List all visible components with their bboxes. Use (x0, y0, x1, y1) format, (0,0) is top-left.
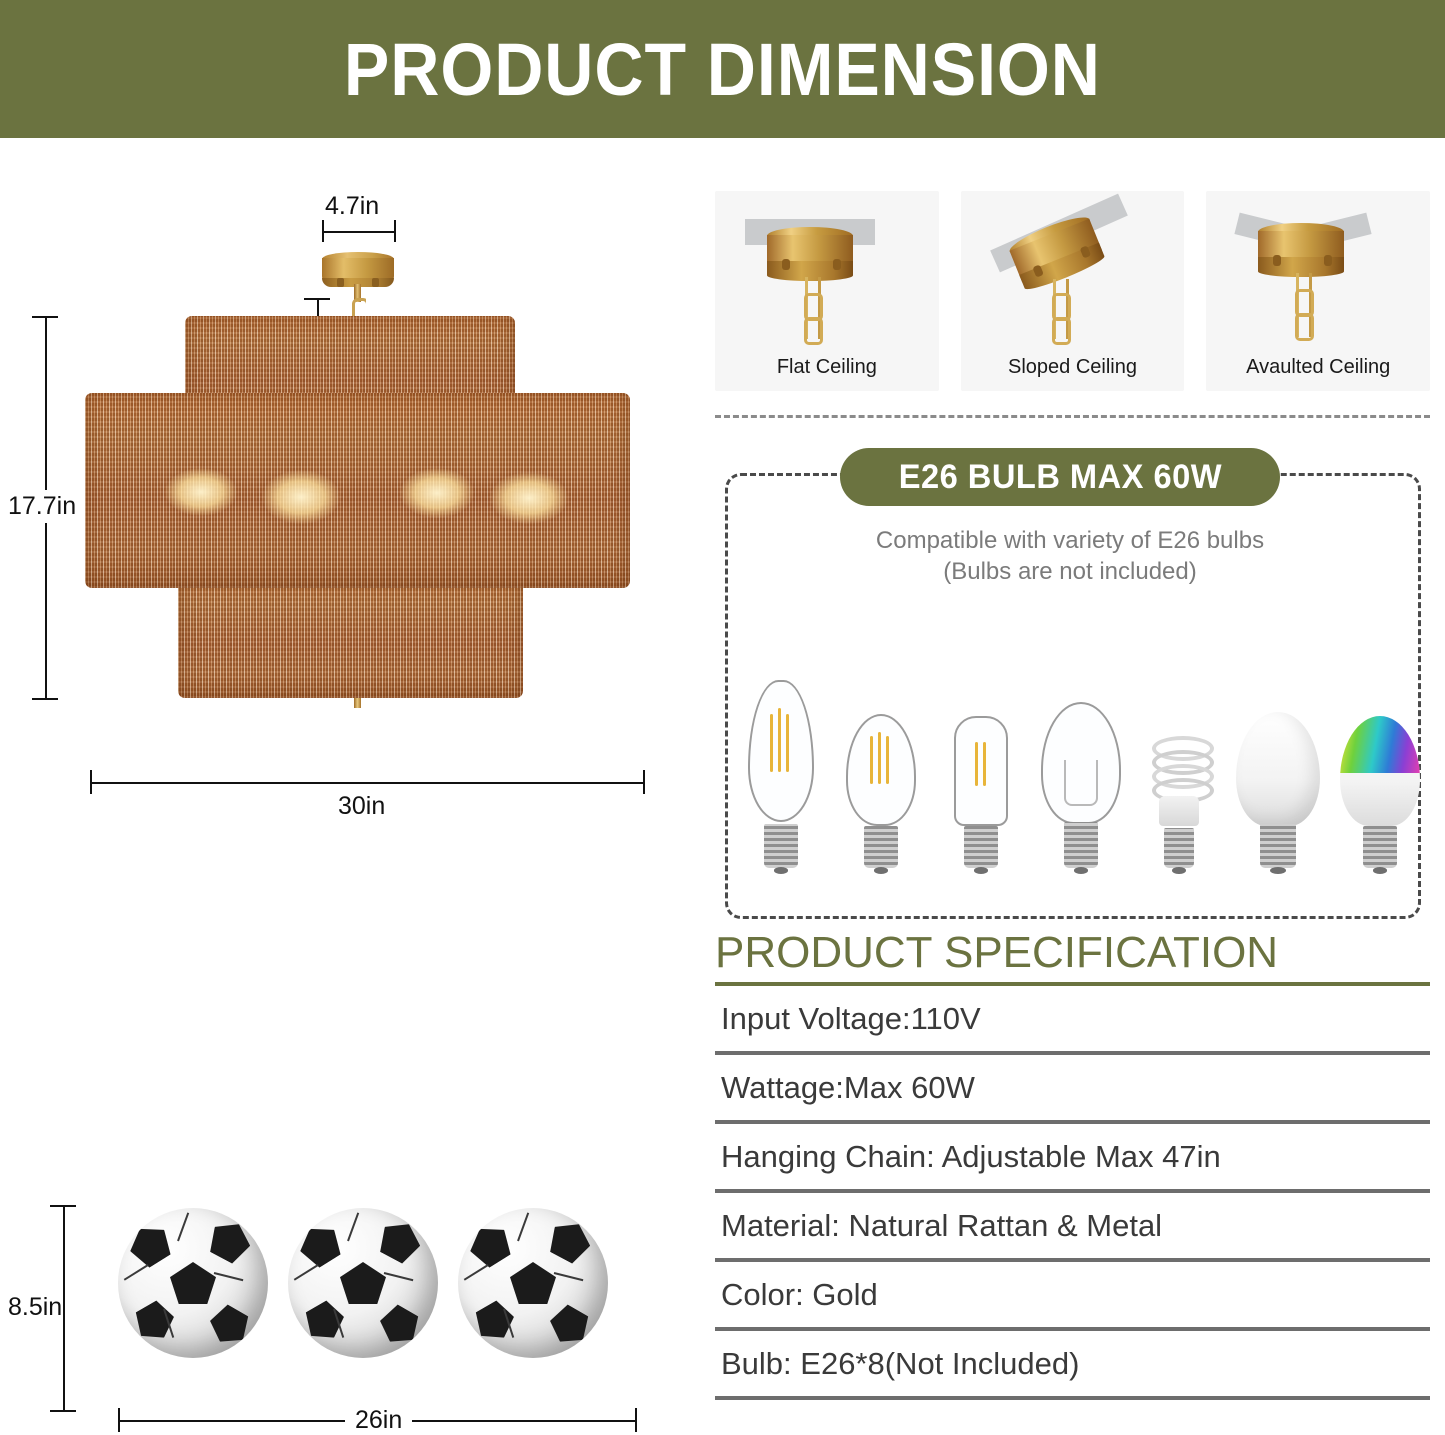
ball-width-label: 26in (345, 1406, 412, 1435)
section-divider (715, 415, 1430, 418)
size-comparison-diagram: 8.5in 26in (0, 1160, 700, 1428)
ceiling-compatibility-cards: Flat Ceiling Sloped Ceiling (715, 191, 1430, 391)
canopy-screw-right (372, 278, 379, 287)
rgb-smart-bulb-icon (1334, 692, 1426, 868)
rattan-tier-middle (85, 393, 630, 588)
bulb-subtitle: Compatible with variety of E26 bulbs (Bu… (725, 526, 1415, 587)
ceiling-card-label: Flat Ceiling (715, 356, 939, 379)
canopy-width-tick-right (394, 220, 396, 242)
rattan-tier-bottom (178, 578, 523, 698)
ceiling-card-flat[interactable]: Flat Ceiling (715, 191, 939, 391)
right-column: Flat Ceiling Sloped Ceiling (700, 138, 1445, 1428)
spec-row: Hanging Chain: Adjustable Max 47in (715, 1124, 1430, 1193)
fixture-width-label: 30in (338, 792, 385, 821)
spec-row: Material: Natural Rattan & Metal (715, 1193, 1430, 1262)
bulb-type-row (730, 638, 1410, 868)
product-specification-section: PRODUCT SPECIFICATION Input Voltage:110V… (715, 928, 1430, 1400)
spec-row: Bulb: E26*8(Not Included) (715, 1331, 1430, 1400)
bulb-badge-label: E26 BULB MAX 60W (898, 458, 1221, 497)
ball-width-tick-right (635, 1408, 637, 1432)
bulb-wattage-badge: E26 BULB MAX 60W (840, 448, 1280, 506)
spec-section-title: PRODUCT SPECIFICATION (715, 928, 1430, 978)
spec-value: Material: Natural Rattan & Metal (715, 1208, 1162, 1244)
hanging-chain (805, 277, 821, 339)
led-white-bulb-icon (1230, 686, 1326, 868)
spec-value: Bulb: E26*8(Not Included) (715, 1346, 1079, 1382)
t45-tubular-filament-bulb-icon (938, 700, 1024, 868)
product-dimension-infographic: PRODUCT DIMENSION 4.7in (0, 0, 1445, 1428)
ceiling-card-label: Sloped Ceiling (961, 356, 1185, 379)
bulb-subtitle-line2: (Bulbs are not included) (725, 557, 1415, 588)
ceiling-card-label: Avaulted Ceiling (1206, 356, 1430, 379)
clear-incandescent-bulb-icon (1036, 682, 1126, 868)
canopy-screw-left (337, 278, 344, 287)
canopy-screw-left (1273, 255, 1281, 266)
ceiling-card-vaulted[interactable]: Avaulted Ceiling (1206, 191, 1430, 391)
soccer-ball (458, 1208, 608, 1358)
hanging-chain (1053, 279, 1069, 339)
spec-value: Wattage:Max 60W (715, 1070, 975, 1106)
spec-row: Wattage:Max 60W (715, 1055, 1430, 1124)
hanging-chain (1296, 273, 1312, 337)
ball-height-line (63, 1205, 65, 1410)
ceiling-card-sloped[interactable]: Sloped Ceiling (961, 191, 1185, 391)
canopy-screw-right (1324, 255, 1332, 266)
spec-row: Color: Gold (715, 1262, 1430, 1331)
canopy-width-line (322, 231, 394, 233)
canopy-screw-right (833, 259, 841, 270)
soccer-ball (288, 1208, 438, 1358)
spec-value: Hanging Chain: Adjustable Max 47in (715, 1139, 1221, 1175)
a19-filament-bulb-icon (838, 696, 924, 868)
spec-value: Input Voltage:110V (715, 1001, 981, 1037)
fixture-width-line (90, 782, 643, 784)
canopy-width-label: 4.7in (325, 192, 379, 221)
st64-edison-filament-bulb-icon (738, 668, 824, 868)
ball-height-tick-bottom (50, 1410, 76, 1412)
bulb-subtitle-line1: Compatible with variety of E26 bulbs (725, 526, 1415, 557)
soccer-ball (118, 1208, 268, 1358)
canopy-screw-left (782, 259, 790, 270)
fixture-width-tick-right (643, 770, 645, 794)
header-banner: PRODUCT DIMENSION (0, 0, 1445, 138)
fixture-height-label: 17.7in (8, 490, 76, 523)
spec-value: Color: Gold (715, 1277, 878, 1313)
page-title: PRODUCT DIMENSION (344, 27, 1101, 112)
cfl-spiral-bulb-icon (1142, 708, 1216, 868)
chandelier-dimension-diagram: 4.7in 47in (adjustable) (0, 138, 700, 1098)
ball-height-label: 8.5in (8, 1293, 62, 1322)
spec-row: Input Voltage:110V (715, 986, 1430, 1055)
fixture-height-tick-bottom (32, 698, 58, 700)
